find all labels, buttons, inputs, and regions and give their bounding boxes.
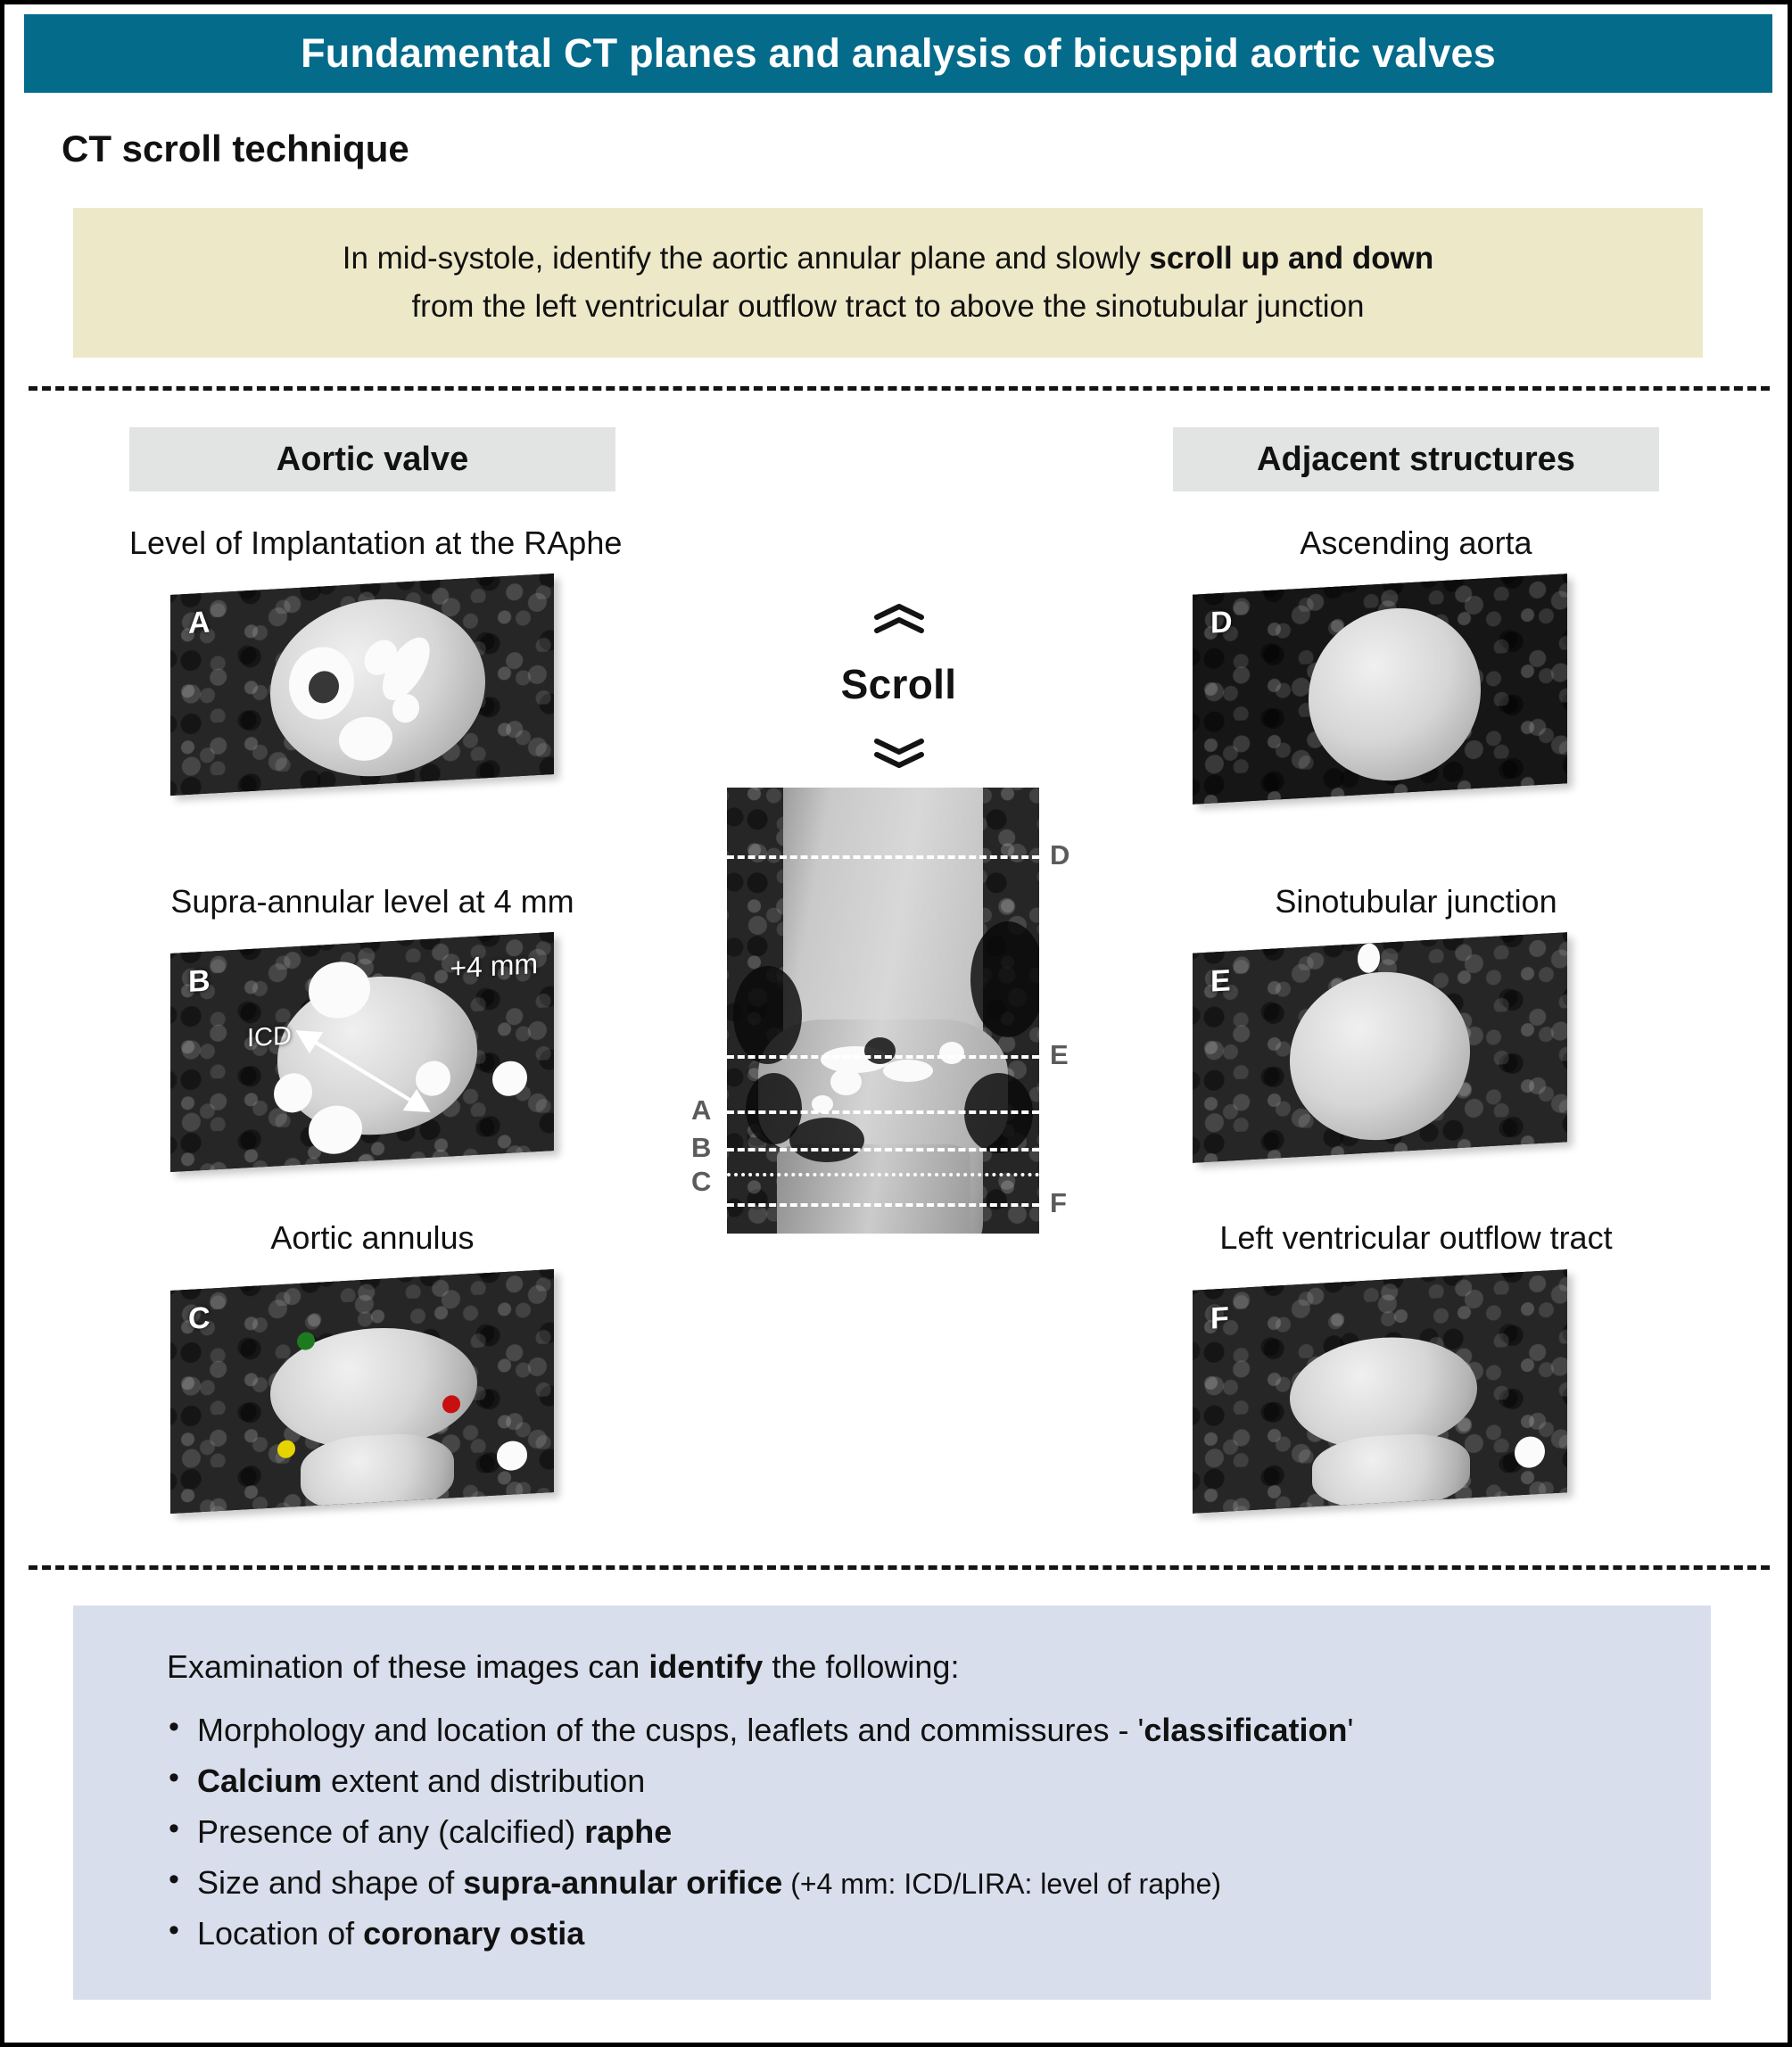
level-line-c: [727, 1173, 1039, 1176]
level-tag-f: F: [1050, 1187, 1067, 1219]
findings-item-pre: Location of: [197, 1915, 363, 1952]
panel-f-letter: F: [1210, 1300, 1229, 1336]
findings-item: Calcium extent and distribution: [167, 1756, 1711, 1807]
findings-intro-post: the following:: [763, 1648, 959, 1685]
technique-line-2: from the left ventricular outflow tract …: [411, 283, 1364, 331]
findings-item-post: (+4 mm: ICD/LIRA: level of raphe): [782, 1868, 1221, 1900]
ct-void: [789, 1118, 864, 1162]
level-line-f: [727, 1203, 1039, 1207]
ct-image-panel-d: D: [1193, 574, 1567, 804]
scroll-control[interactable]: Scroll: [812, 604, 986, 764]
divider-bottom: [29, 1565, 1770, 1570]
scroll-label: Scroll: [841, 660, 957, 708]
findings-item-post: ': [1348, 1712, 1354, 1748]
findings-item-bold: classification: [1144, 1712, 1347, 1748]
ct-void: [970, 921, 1039, 1037]
findings-item: Presence of any (calcified) raphe: [167, 1807, 1711, 1858]
findings-item-bold: raphe: [584, 1813, 672, 1850]
chevron-double-down-icon[interactable]: [871, 738, 927, 764]
panel-b-offset-note: +4 mm: [450, 947, 538, 986]
ct-calcification: [830, 1069, 862, 1095]
level-tag-c: C: [691, 1166, 711, 1198]
findings-item: Morphology and location of the cusps, le…: [167, 1705, 1711, 1756]
level-tag-a: A: [691, 1094, 711, 1127]
technique-callout: In mid-systole, identify the aortic annu…: [73, 208, 1703, 358]
findings-callout: Examination of these images can identify…: [73, 1605, 1711, 2000]
column-header-adjacent-structures-label: Adjacent structures: [1257, 441, 1575, 479]
ct-image-panel-e: E: [1193, 932, 1567, 1162]
findings-item: Location of coronary ostia: [167, 1909, 1711, 1960]
ct-calcification: [939, 1042, 964, 1064]
level-line-a: [727, 1110, 1039, 1114]
findings-item-bold: Calcium: [197, 1762, 322, 1799]
sagittal-reference-panel: D E A B C F: [727, 788, 1039, 1234]
chevron-double-up-icon[interactable]: [871, 604, 927, 631]
panel-f-caption: Left ventricular outflow tract: [1173, 1219, 1659, 1257]
findings-intro-emphasis: identify: [648, 1648, 763, 1685]
level-tag-e: E: [1050, 1039, 1069, 1071]
level-line-e: [727, 1055, 1039, 1059]
technique-line-1-emphasis: scroll up and down: [1149, 241, 1433, 276]
column-header-adjacent-structures: Adjacent structures: [1173, 427, 1659, 491]
figure-title: Fundamental CT planes and analysis of bi…: [301, 30, 1496, 77]
findings-item-bold: supra-annular orifice: [463, 1864, 782, 1901]
ct-void: [864, 1037, 896, 1064]
findings-list: Morphology and location of the cusps, le…: [167, 1705, 1711, 1959]
technique-line-1: In mid-systole, identify the aortic annu…: [343, 235, 1434, 283]
findings-item-pre: Size and shape of: [197, 1864, 463, 1901]
ct-calcification: [883, 1060, 933, 1082]
findings-item-bold: coronary ostia: [363, 1915, 584, 1952]
ct-sagittal-image: [727, 788, 1039, 1234]
panel-d-letter: D: [1210, 605, 1233, 640]
level-line-d: [727, 855, 1039, 859]
ct-image-panel-c: C: [170, 1269, 554, 1514]
findings-item-pre: Presence of any (calcified): [197, 1813, 584, 1850]
column-header-aortic-valve-label: Aortic valve: [277, 441, 468, 479]
findings-item: Size and shape of supra-annular orifice …: [167, 1858, 1711, 1909]
level-tag-b: B: [691, 1132, 711, 1164]
findings-intro-pre: Examination of these images can: [167, 1648, 648, 1685]
level-tag-d: D: [1050, 839, 1069, 871]
icd-label: ICD: [247, 1021, 292, 1053]
panel-a-letter: A: [188, 606, 211, 641]
ct-image-panel-b: B +4 mm ICD: [170, 932, 554, 1172]
panel-e-letter: E: [1210, 963, 1231, 999]
panel-b-letter: B: [188, 964, 211, 1000]
panel-e-caption: Sinotubular junction: [1173, 883, 1659, 920]
panel-d-caption: Ascending aorta: [1173, 524, 1659, 562]
technique-line-1-text: In mid-systole, identify the aortic annu…: [343, 241, 1150, 276]
panel-c-letter: C: [188, 1301, 211, 1337]
figure-panel: Fundamental CT planes and analysis of bi…: [0, 0, 1792, 2047]
column-header-aortic-valve: Aortic valve: [129, 427, 615, 491]
figure-header-bar: Fundamental CT planes and analysis of bi…: [24, 14, 1772, 93]
ct-image-panel-a: A: [170, 574, 554, 796]
findings-intro: Examination of these images can identify…: [167, 1648, 1711, 1686]
findings-item-pre: Morphology and location of the cusps, le…: [197, 1712, 1144, 1748]
findings-item-post: extent and distribution: [322, 1762, 645, 1799]
panel-a-caption: Level of Implantation at the RAphe: [129, 524, 615, 562]
ct-image-panel-f: F: [1193, 1269, 1567, 1513]
panel-c-caption: Aortic annulus: [129, 1219, 615, 1257]
level-line-b: [727, 1148, 1039, 1151]
section-title: CT scroll technique: [62, 128, 409, 170]
panel-b-caption: Supra-annular level at 4 mm: [129, 883, 615, 920]
divider-top: [29, 386, 1770, 391]
ct-void: [733, 966, 802, 1064]
